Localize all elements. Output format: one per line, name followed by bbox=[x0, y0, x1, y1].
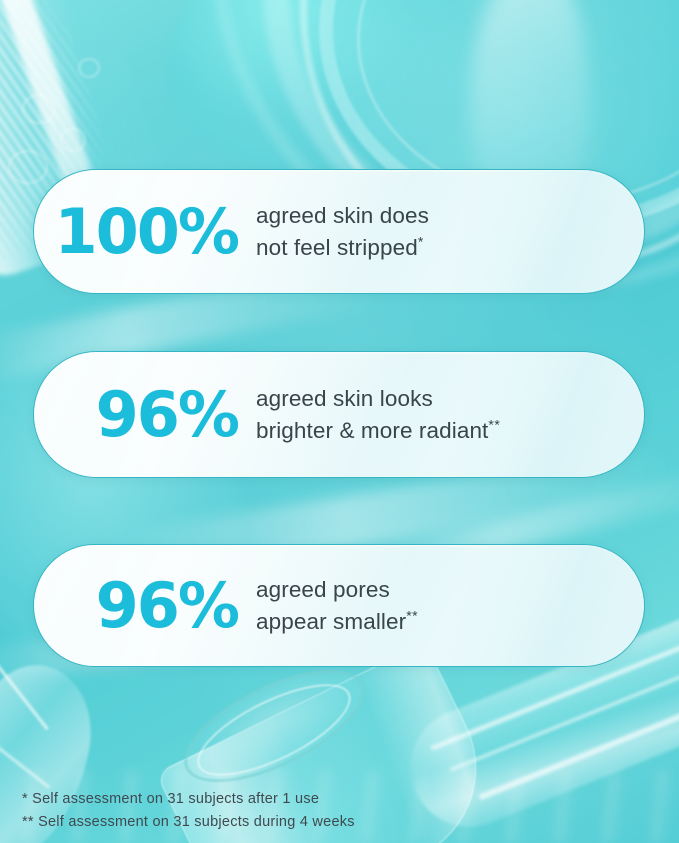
claim-card: 96% agreed poresappear smaller** bbox=[33, 544, 645, 667]
claim-line-2: appear smaller bbox=[256, 609, 406, 634]
claim-description: agreed skin doesnot feel stripped* bbox=[256, 200, 644, 262]
claim-footnote-marker: ** bbox=[488, 416, 500, 432]
footnotes: * Self assessment on 31 subjects after 1… bbox=[22, 788, 642, 835]
claim-line-1: agreed pores bbox=[256, 577, 390, 602]
claim-stat: 96% bbox=[34, 384, 256, 446]
claim-description: agreed poresappear smaller** bbox=[256, 574, 644, 636]
claim-footnote-marker: * bbox=[418, 233, 424, 249]
claim-line-1: agreed skin looks bbox=[256, 386, 433, 411]
footnote-single-asterisk: * Self assessment on 31 subjects after 1… bbox=[22, 788, 642, 811]
claim-line-2: brighter & more radiant bbox=[256, 418, 488, 443]
claim-stat: 96% bbox=[34, 575, 256, 637]
claims-list: 100% agreed skin doesnot feel stripped* … bbox=[0, 0, 679, 843]
footnote-double-asterisk: ** Self assessment on 31 subjects during… bbox=[22, 811, 642, 834]
claim-line-2: not feel stripped bbox=[256, 235, 418, 260]
claim-stat: 100% bbox=[34, 201, 256, 263]
claim-description: agreed skin looksbrighter & more radiant… bbox=[256, 383, 644, 445]
claim-footnote-marker: ** bbox=[406, 607, 418, 623]
claim-card: 96% agreed skin looksbrighter & more rad… bbox=[33, 351, 645, 478]
claim-line-1: agreed skin does bbox=[256, 203, 429, 228]
claim-card: 100% agreed skin doesnot feel stripped* bbox=[33, 169, 645, 294]
infographic-canvas: 100% agreed skin doesnot feel stripped* … bbox=[0, 0, 679, 843]
